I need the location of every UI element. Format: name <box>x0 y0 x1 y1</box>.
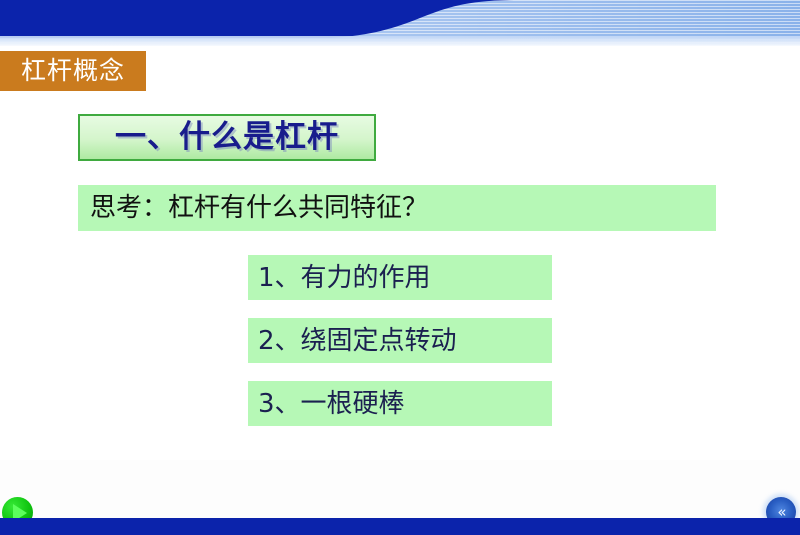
question-bar: 思考：杠杆有什么共同特征？ <box>78 185 716 231</box>
title-badge: 杠杆概念 <box>0 51 146 91</box>
feature-item-2: 2、绕固定点转动 <box>248 318 552 363</box>
title-badge-label: 杠杆概念 <box>21 58 125 83</box>
section-heading-box: 一、什么是杠杆 <box>78 114 376 161</box>
feature-item-3: 3、一根硬棒 <box>248 381 552 426</box>
question-label: 思考：杠杆有什么共同特征？ <box>78 195 428 221</box>
header-fade-strip <box>0 36 800 46</box>
slide-canvas: 杠杆概念 一、什么是杠杆 思考：杠杆有什么共同特征？ 1、有力的作用 2、绕固定… <box>0 0 800 535</box>
feature-item-1: 1、有力的作用 <box>248 255 552 300</box>
section-heading-label: 一、什么是杠杆 <box>115 122 339 153</box>
bottom-bar <box>0 518 800 535</box>
header-band <box>0 0 800 46</box>
feature-item-1-label: 1、有力的作用 <box>248 265 431 291</box>
feature-item-3-label: 3、一根硬棒 <box>248 391 405 417</box>
feature-item-2-label: 2、绕固定点转动 <box>248 328 457 354</box>
bottom-wash <box>0 460 800 518</box>
